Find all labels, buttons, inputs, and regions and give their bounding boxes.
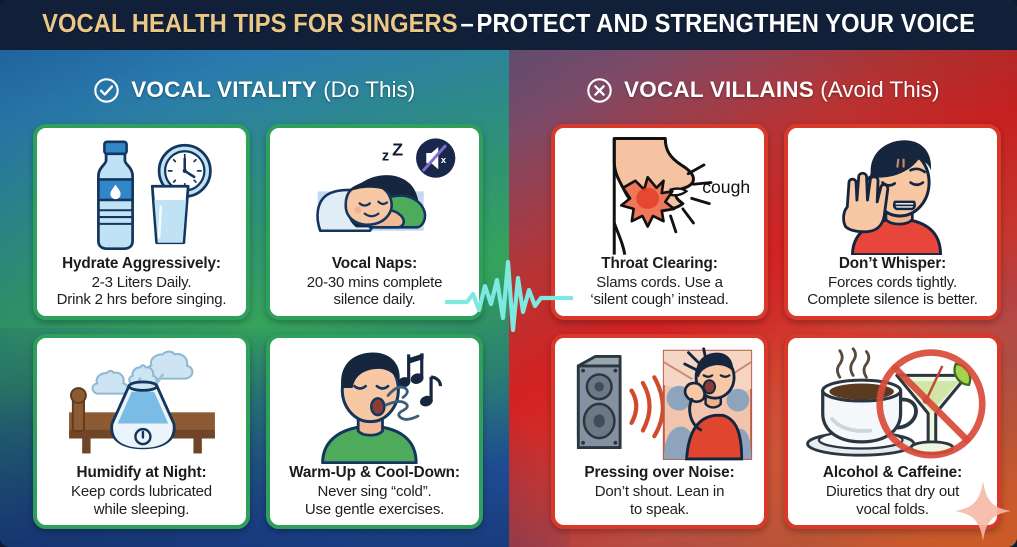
column-header-vitality-label: VOCAL VITALITY (Do This) xyxy=(131,77,415,103)
villains-card-grid: cough Throat Clearing: Slams cords. Use … xyxy=(551,124,1001,529)
column-header-villains: VOCAL VILLAINS (Avoid This) xyxy=(509,70,1017,110)
title-bar: VOCAL HEALTH TIPS FOR SINGERS–PROTECT AN… xyxy=(0,0,1017,50)
cough-label: cough xyxy=(702,177,750,197)
column-header-vitality: VOCAL VITALITY (Do This) xyxy=(0,70,509,110)
singer-warmup-notes-icon xyxy=(276,345,473,465)
card-warmup-title: Warm-Up & Cool-Down: xyxy=(276,464,473,482)
card-throat-clearing-body: Slams cords. Use a‘silent cough’ instead… xyxy=(561,274,758,309)
humidifier-bed-icon xyxy=(43,345,240,465)
card-vocal-naps[interactable]: z Z x xyxy=(266,124,483,320)
card-humidify[interactable]: Humidify at Night: Keep cords lubricated… xyxy=(33,334,250,530)
check-circle-icon xyxy=(93,77,120,104)
water-bottle-clock-glass-icon xyxy=(43,135,240,255)
card-humidify-title: Humidify at Night: xyxy=(43,464,240,482)
page-title: VOCAL HEALTH TIPS FOR SINGERS–PROTECT AN… xyxy=(42,12,975,38)
card-vocal-naps-title: Vocal Naps: xyxy=(276,255,473,273)
card-pressing-over-noise-title: Pressing over Noise: xyxy=(561,464,758,482)
card-vocal-naps-body: 20-30 mins completesilence daily. xyxy=(276,274,473,309)
card-hydrate-title: Hydrate Aggressively: xyxy=(43,255,240,273)
sleeping-woman-mute-icon: z Z x xyxy=(276,135,473,255)
villains-heading: VOCAL VILLAINS xyxy=(624,77,814,102)
card-humidify-caption: Humidify at Night: Keep cords lubricated… xyxy=(43,464,240,519)
card-dont-whisper-title: Don’t Whisper: xyxy=(794,255,991,273)
card-throat-clearing-caption: Throat Clearing: Slams cords. Use a‘sile… xyxy=(561,255,758,310)
card-humidify-body: Keep cords lubricatedwhile sleeping. xyxy=(43,483,240,518)
svg-text:z: z xyxy=(381,149,388,165)
vitality-subheading: (Do This) xyxy=(323,77,415,102)
title-secondary: PROTECT AND STRENGTHEN YOUR VOICE xyxy=(476,10,974,38)
svg-text:x: x xyxy=(440,154,446,165)
card-vocal-naps-caption: Vocal Naps: 20-30 mins completesilence d… xyxy=(276,255,473,310)
card-warmup-caption: Warm-Up & Cool-Down: Never sing “cold”.U… xyxy=(276,464,473,519)
card-dont-whisper-body: Forces cords tightly.Complete silence is… xyxy=(794,274,991,309)
title-dash: – xyxy=(458,10,477,38)
x-circle-icon xyxy=(586,77,613,104)
title-primary: VOCAL HEALTH TIPS FOR SINGERS xyxy=(42,10,458,38)
card-warmup-body: Never sing “cold”.Use gentle exercises. xyxy=(276,483,473,518)
infographic-root: VOCAL HEALTH TIPS FOR SINGERS–PROTECT AN… xyxy=(0,0,1017,547)
card-hydrate[interactable]: Hydrate Aggressively: 2-3 Liters Daily.D… xyxy=(33,124,250,320)
card-throat-clearing[interactable]: cough Throat Clearing: Slams cords. Use … xyxy=(551,124,768,320)
throat-clearing-icon: cough xyxy=(561,135,758,255)
card-pressing-over-noise[interactable]: Pressing over Noise: Don’t shout. Lean i… xyxy=(551,334,768,530)
villains-subheading: (Avoid This) xyxy=(820,77,939,102)
sparkle-icon xyxy=(955,481,1011,541)
vitality-heading: VOCAL VITALITY xyxy=(131,77,317,102)
card-throat-clearing-title: Throat Clearing: xyxy=(561,255,758,273)
card-pressing-over-noise-body: Don’t shout. Lean into speak. xyxy=(561,483,758,518)
whispering-man-icon xyxy=(794,135,991,255)
svg-text:Z: Z xyxy=(392,140,403,160)
card-dont-whisper[interactable]: Don’t Whisper: Forces cords tightly.Comp… xyxy=(784,124,1001,320)
card-hydrate-caption: Hydrate Aggressively: 2-3 Liters Daily.D… xyxy=(43,255,240,310)
loudspeaker-shouting-crowd-icon xyxy=(561,345,758,465)
card-pressing-over-noise-caption: Pressing over Noise: Don’t shout. Lean i… xyxy=(561,464,758,519)
vitality-card-grid: Hydrate Aggressively: 2-3 Liters Daily.D… xyxy=(33,124,483,529)
card-alcohol-caffeine-title: Alcohol & Caffeine: xyxy=(794,464,991,482)
column-header-villains-label: VOCAL VILLAINS (Avoid This) xyxy=(624,77,939,103)
card-dont-whisper-caption: Don’t Whisper: Forces cords tightly.Comp… xyxy=(794,255,991,310)
card-hydrate-body: 2-3 Liters Daily.Drink 2 hrs before sing… xyxy=(43,274,240,309)
coffee-cocktail-prohibited-icon xyxy=(794,345,991,465)
card-warmup[interactable]: Warm-Up & Cool-Down: Never sing “cold”.U… xyxy=(266,334,483,530)
